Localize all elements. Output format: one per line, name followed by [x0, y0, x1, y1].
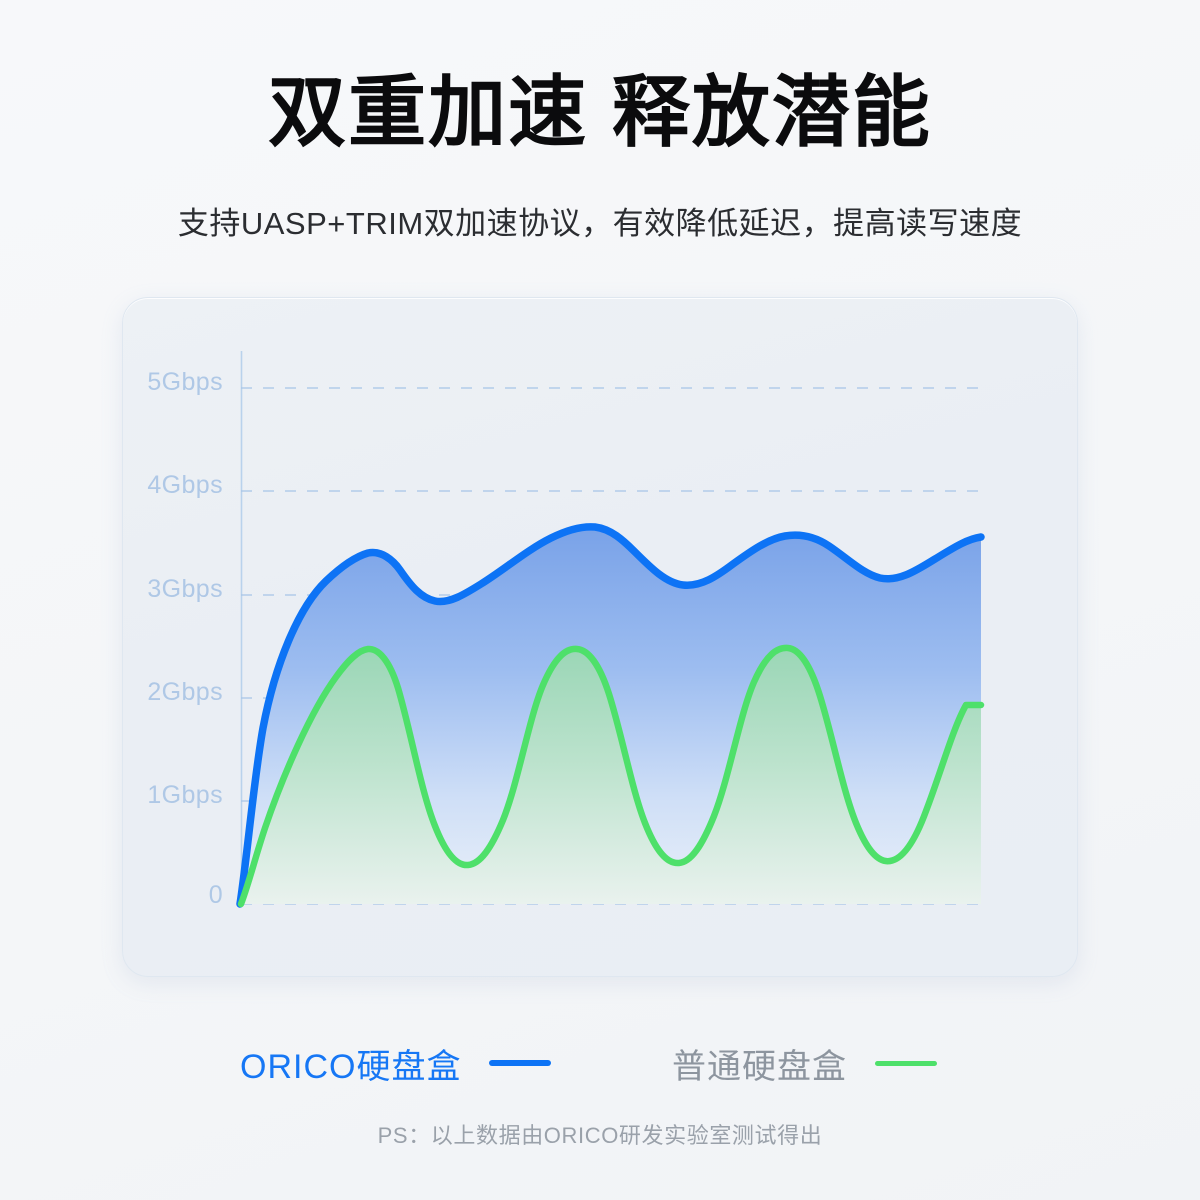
y-tick-label-4: 4Gbps	[123, 471, 223, 500]
chart-footnote: PS：以上数据由ORICO研发实验室测试得出	[0, 1118, 1200, 1150]
legend-label-normal: 普通硬盘盒	[672, 1039, 847, 1088]
y-tick-label-5: 5Gbps	[123, 368, 223, 397]
page-subtitle: 支持UASP+TRIM双加速协议，有效降低延迟，提高读写速度	[0, 204, 1200, 244]
legend-item-orico[interactable]: ORICO硬盘盒	[240, 1036, 551, 1090]
y-tick-label-2: 2Gbps	[123, 678, 223, 707]
page-title: 双重加速 释放潜能	[0, 72, 1200, 153]
chart-legend: ORICO硬盘盒 普通硬盘盒	[0, 1036, 1200, 1090]
legend-item-normal[interactable]: 普通硬盘盒	[672, 1036, 937, 1090]
y-tick-label-0: 0	[123, 881, 223, 910]
legend-line-orico	[489, 1060, 551, 1066]
chart-card: 5Gbps 4Gbps 3Gbps 2Gbps 1Gbps 0	[122, 297, 1078, 977]
y-tick-label-1: 1Gbps	[123, 781, 223, 810]
speed-comparison-chart	[123, 298, 1078, 977]
y-tick-label-3: 3Gbps	[123, 575, 223, 604]
legend-line-normal	[875, 1061, 937, 1066]
legend-label-orico: ORICO硬盘盒	[240, 1039, 461, 1088]
promo-page: 双重加速 释放潜能 支持UASP+TRIM双加速协议，有效降低延迟，提高读写速度	[0, 0, 1200, 1200]
